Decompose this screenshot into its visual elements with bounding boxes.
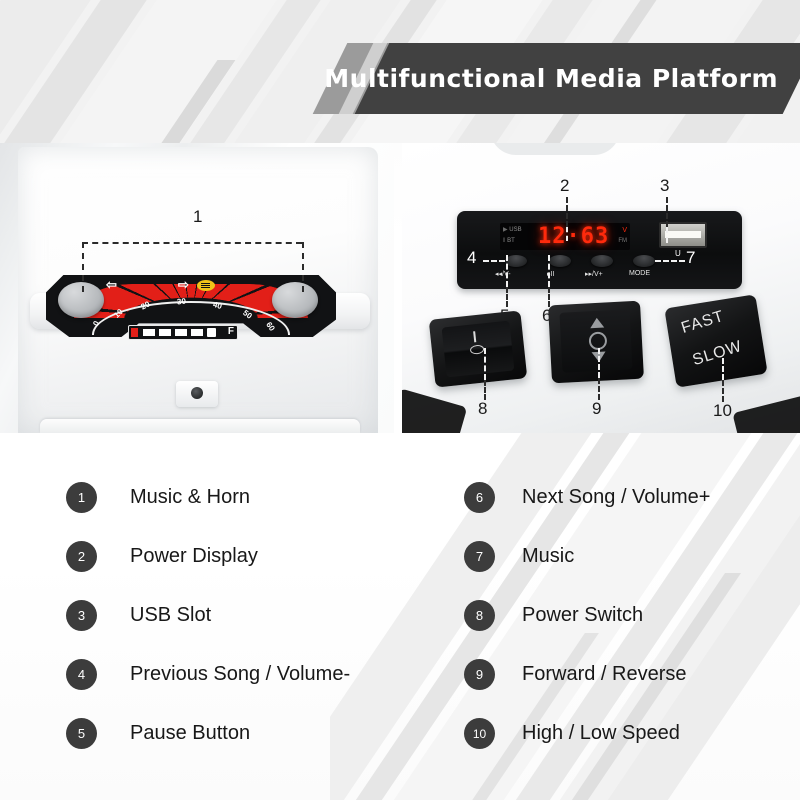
legend-badge-2: 2 (66, 541, 97, 572)
media-control-panel: ▶ USB ‖ BT 12·63 V FM U ◂◂/V- ▸II ▸▸/V+ … (457, 211, 742, 289)
fuel-pump-icon (207, 328, 216, 337)
legend-badge-1: 1 (66, 482, 97, 513)
legend-badge-9: 9 (464, 659, 495, 690)
direction-switch-rocker[interactable] (559, 309, 632, 373)
speed-slow-label: SLOW (691, 338, 745, 370)
next-song-button[interactable] (591, 255, 613, 267)
callout-7-number: 7 (686, 248, 695, 268)
forward-arrow-icon (590, 318, 605, 329)
callout-10-leader (722, 380, 724, 402)
infographic-page: Multifunctional Media Platform 0 10 20 3… (0, 0, 800, 800)
legend-label-1: Music & Horn (130, 486, 250, 509)
legend-label-9: Forward / Reverse (522, 663, 687, 686)
direction-switch[interactable] (548, 301, 644, 384)
legend-item-1: 1 Music & Horn (66, 482, 250, 513)
callout-5-leader (506, 287, 508, 307)
led-digits: 12·63 (538, 225, 609, 248)
legend-label-2: Power Display (130, 545, 258, 568)
media-panel-photo: ▶ USB ‖ BT 12·63 V FM U ◂◂/V- ▸II ▸▸/V+ … (402, 143, 800, 433)
legend-badge-5: 5 (66, 718, 97, 749)
callout-9-leader (598, 378, 600, 400)
left-turn-arrow-icon: ⇦ (106, 277, 117, 293)
power-switch-rocker[interactable] (442, 321, 515, 378)
callout-10-number: 10 (713, 401, 732, 421)
right-turn-arrow-icon: ⇨ (178, 277, 189, 293)
legend-item-10: 10 High / Low Speed (464, 718, 680, 749)
power-off-mark-icon (470, 344, 485, 354)
callout-4-leader (483, 260, 505, 262)
callout-3-leader (666, 197, 668, 227)
speed-fast-label: FAST (679, 308, 726, 338)
legend-badge-8: 8 (464, 600, 495, 631)
callout-5-leader-inner (506, 255, 508, 287)
callout-7-leader (655, 260, 685, 262)
legend-label-6: Next Song / Volume+ (522, 486, 710, 509)
led-label-bt: BT (507, 238, 515, 244)
gauge-tick-50: 50 (241, 308, 253, 321)
led-label-usb: USB (509, 227, 521, 233)
callout-1-leader-right (302, 242, 304, 292)
legend-item-2: 2 Power Display (66, 541, 258, 572)
led-display: ▶ USB ‖ BT 12·63 V FM (500, 223, 630, 250)
callout-8-leader-inner (484, 348, 486, 380)
pause-button[interactable] (549, 255, 571, 267)
legend-item-3: 3 USB Slot (66, 600, 211, 631)
callout-1-number: 1 (193, 207, 202, 227)
gauge-tick-30: 30 (177, 297, 187, 307)
mode-button[interactable] (633, 255, 655, 267)
dashboard-photo: 0 10 20 30 40 50 60 F ⇦ ⇨ 1 (0, 143, 394, 433)
headlight-icon (197, 280, 215, 291)
hood-lip (40, 419, 360, 433)
speed-switch[interactable]: FAST SLOW (664, 294, 767, 387)
gauge-tick-20: 20 (139, 300, 151, 312)
hood-hinge (176, 381, 218, 407)
legend-badge-6: 6 (464, 482, 495, 513)
callout-9-number: 9 (592, 399, 601, 419)
body-notch (490, 143, 620, 155)
legend-label-3: USB Slot (130, 604, 211, 627)
fuel-gauge: F (128, 325, 238, 340)
legend-label-10: High / Low Speed (522, 722, 680, 745)
legend-item-9: 9 Forward / Reverse (464, 659, 687, 690)
legend-item-8: 8 Power Switch (464, 600, 643, 631)
gauge-tick-40: 40 (212, 300, 223, 311)
legend-label-5: Pause Button (130, 722, 250, 745)
callout-3-number: 3 (660, 176, 669, 196)
gauge-tick-10: 10 (112, 307, 125, 320)
next-song-label: ▸▸/V+ (585, 270, 603, 278)
led-label-v: V (611, 225, 627, 236)
callout-4-number: 4 (467, 248, 476, 268)
callout-10-leader-inner (722, 358, 724, 380)
callout-8-leader (484, 380, 486, 400)
left-knob[interactable] (58, 282, 104, 318)
callout-3-leader-inner (666, 227, 668, 243)
power-switch[interactable] (429, 310, 528, 387)
fuel-full-label: F (228, 326, 234, 337)
legend-badge-4: 4 (66, 659, 97, 690)
callout-2-leader (566, 197, 568, 227)
legend-item-4: 4 Previous Song / Volume- (66, 659, 350, 690)
led-label-fm: FM (611, 236, 627, 247)
legend-badge-3: 3 (66, 600, 97, 631)
legend-badge-10: 10 (464, 718, 495, 749)
legend-label-4: Previous Song / Volume- (130, 663, 350, 686)
prev-song-button[interactable] (505, 255, 527, 267)
page-title: Multifunctional Media Platform (324, 64, 778, 93)
gauge-tick-60: 60 (264, 320, 276, 332)
usb-slot-label: U (675, 249, 681, 258)
callout-2-number: 2 (560, 176, 569, 196)
fuel-ticks (143, 329, 205, 336)
led-source-labels: ▶ USB ‖ BT (503, 225, 537, 248)
led-mode-labels: V FM (611, 225, 627, 247)
legend-label-8: Power Switch (522, 604, 643, 627)
fuel-empty-marker (131, 328, 138, 337)
legend-section: 1 Music & Horn 2 Power Display 3 USB Slo… (0, 433, 800, 800)
callout-2-leader-inner (566, 227, 568, 241)
legend-badge-7: 7 (464, 541, 495, 572)
legend-item-5: 5 Pause Button (66, 718, 250, 749)
power-on-mark-icon (473, 331, 476, 342)
legend-item-7: 7 Music (464, 541, 574, 572)
callout-6-leader-inner (548, 255, 550, 287)
header-banner: Multifunctional Media Platform (330, 43, 800, 114)
callout-9-leader-inner (598, 348, 600, 378)
callout-1-leader-left (82, 242, 84, 292)
gauge-tick-0: 0 (91, 319, 101, 327)
mode-label: MODE (629, 270, 650, 277)
right-knob[interactable] (272, 282, 318, 318)
prev-song-label: ◂◂/V- (495, 270, 511, 278)
callout-6-leader (548, 287, 550, 307)
callout-1-bracket-horizontal (82, 242, 302, 244)
callout-8-number: 8 (478, 399, 487, 419)
legend-label-7: Music (522, 545, 574, 568)
legend-item-6: 6 Next Song / Volume+ (464, 482, 710, 513)
